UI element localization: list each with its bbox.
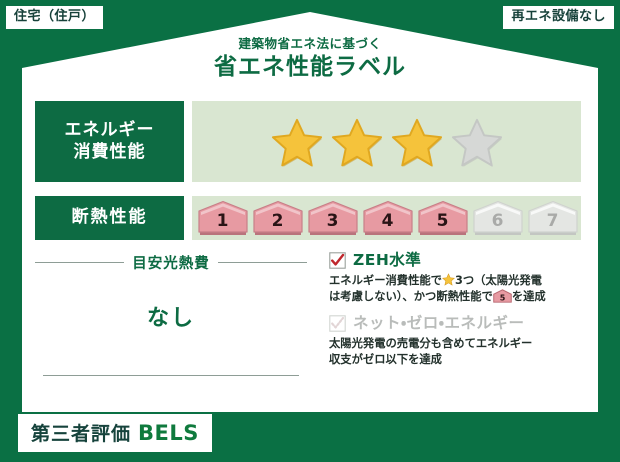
zeh-desc-part2: 3つ（太陽光発電 [455, 274, 542, 287]
energy-rating-panel [192, 101, 581, 182]
insulation-level-badge-5: 5 [417, 200, 469, 236]
zeh-desc-part3: は考慮しない）、かつ断熱性能で [329, 290, 493, 303]
bottom-section: 目安光熱費 なし ZEH水準 エネルギー消費性能で3つ（太陽光発電 は考慮しない [35, 252, 581, 392]
energy-performance-row: エネルギー 消費性能 [35, 101, 581, 182]
checkbox-faint-icon [329, 315, 346, 332]
net-zero-heading: ネット・ゼロ・エネルギー [329, 315, 581, 332]
bels-footer: 第三者評価 BELS [18, 414, 212, 452]
net-zero-desc-line2: 収支がゼロ以下を達成 [329, 353, 442, 366]
insulation-level-number: 3 [327, 213, 339, 236]
insulation-rating-panel: 1234567 [192, 196, 581, 240]
criteria-column: ZEH水準 エネルギー消費性能で3つ（太陽光発電 は考慮しない）、かつ断熱性能で… [307, 252, 581, 392]
net-zero-criterion-block: ネット・ゼロ・エネルギー 太陽光発電の売電分も含めてエネルギー 収支がゼロ以下を… [329, 315, 581, 369]
bels-en-label: BELS [138, 421, 199, 445]
star-icon-filled [330, 116, 384, 168]
renewable-equipment-tag: 再エネ設備なし [503, 6, 614, 29]
zeh-desc-part1: エネルギー消費性能で [329, 274, 442, 287]
net-zero-title: ネット・ゼロ・エネルギー [353, 316, 525, 332]
star-icon-filled [270, 116, 324, 168]
svg-text:5: 5 [500, 294, 506, 303]
building-type-tag: 住宅（住戸） [6, 6, 103, 29]
energy-label-line1: エネルギー [65, 120, 155, 141]
insulation-level-badge-7: 7 [527, 200, 579, 236]
insulation-level-badge-3: 3 [307, 200, 359, 236]
rule-line-right [218, 262, 307, 263]
zeh-criterion-block: ZEH水準 エネルギー消費性能で3つ（太陽光発電 は考慮しない）、かつ断熱性能で… [329, 252, 581, 306]
label-board: 住宅（住戸） 再エネ設備なし 建築物省エネ法に基づく 省エネ性能ラベル エネルギ… [0, 0, 620, 462]
insulation-level-badges: 1234567 [195, 200, 579, 236]
star-icon-filled [390, 116, 444, 168]
insulation-level-number: 1 [217, 213, 229, 236]
star-icon [442, 273, 455, 286]
house-badge-icon: 5 [493, 289, 512, 303]
net-zero-description: 太陽光発電の売電分も含めてエネルギー 収支がゼロ以下を達成 [329, 336, 581, 369]
zeh-description: エネルギー消費性能で3つ（太陽光発電 は考慮しない）、かつ断熱性能で5を達成 [329, 273, 581, 306]
insulation-level-badge-1: 1 [197, 200, 249, 236]
zeh-heading: ZEH水準 [329, 252, 581, 269]
insulation-level-badge-4: 4 [362, 200, 414, 236]
insulation-level-number: 7 [547, 213, 559, 236]
zeh-title: ZEH水準 [353, 253, 421, 269]
insulation-performance-label: 断熱性能 [35, 196, 184, 240]
insulation-performance-row: 断熱性能 1234567 [35, 196, 581, 240]
energy-label-line2: 消費性能 [74, 142, 146, 163]
utility-cost-heading: 目安光熱費 [35, 252, 307, 273]
insulation-level-number: 2 [272, 213, 284, 236]
utility-cost-heading-text: 目安光熱費 [132, 252, 210, 273]
net-zero-desc-line1: 太陽光発電の売電分も含めてエネルギー [329, 337, 532, 350]
insulation-level-number: 5 [437, 213, 449, 236]
zeh-desc-part4: を達成 [512, 290, 546, 303]
insulation-level-number: 6 [492, 213, 504, 236]
star-rating [270, 116, 504, 168]
label-title: 建築物省エネ法に基づく 省エネ性能ラベル [0, 38, 620, 79]
energy-performance-label: エネルギー 消費性能 [35, 101, 184, 182]
insulation-label-text: 断熱性能 [72, 207, 148, 228]
insulation-level-badge-6: 6 [472, 200, 524, 236]
utility-cost-column: 目安光熱費 なし [35, 252, 307, 392]
star-icon-empty [450, 116, 504, 168]
utility-cost-value: なし [35, 300, 307, 332]
rule-line-left [35, 262, 124, 263]
insulation-level-number: 4 [382, 213, 394, 236]
bels-jp-label: 第三者評価 [31, 419, 131, 446]
utility-cost-bottom-rule [43, 375, 299, 376]
insulation-level-badge-2: 2 [252, 200, 304, 236]
title-main: 省エネ性能ラベル [0, 56, 620, 79]
title-subtitle: 建築物省エネ法に基づく [0, 38, 620, 51]
checkbox-checked-icon [329, 252, 346, 269]
